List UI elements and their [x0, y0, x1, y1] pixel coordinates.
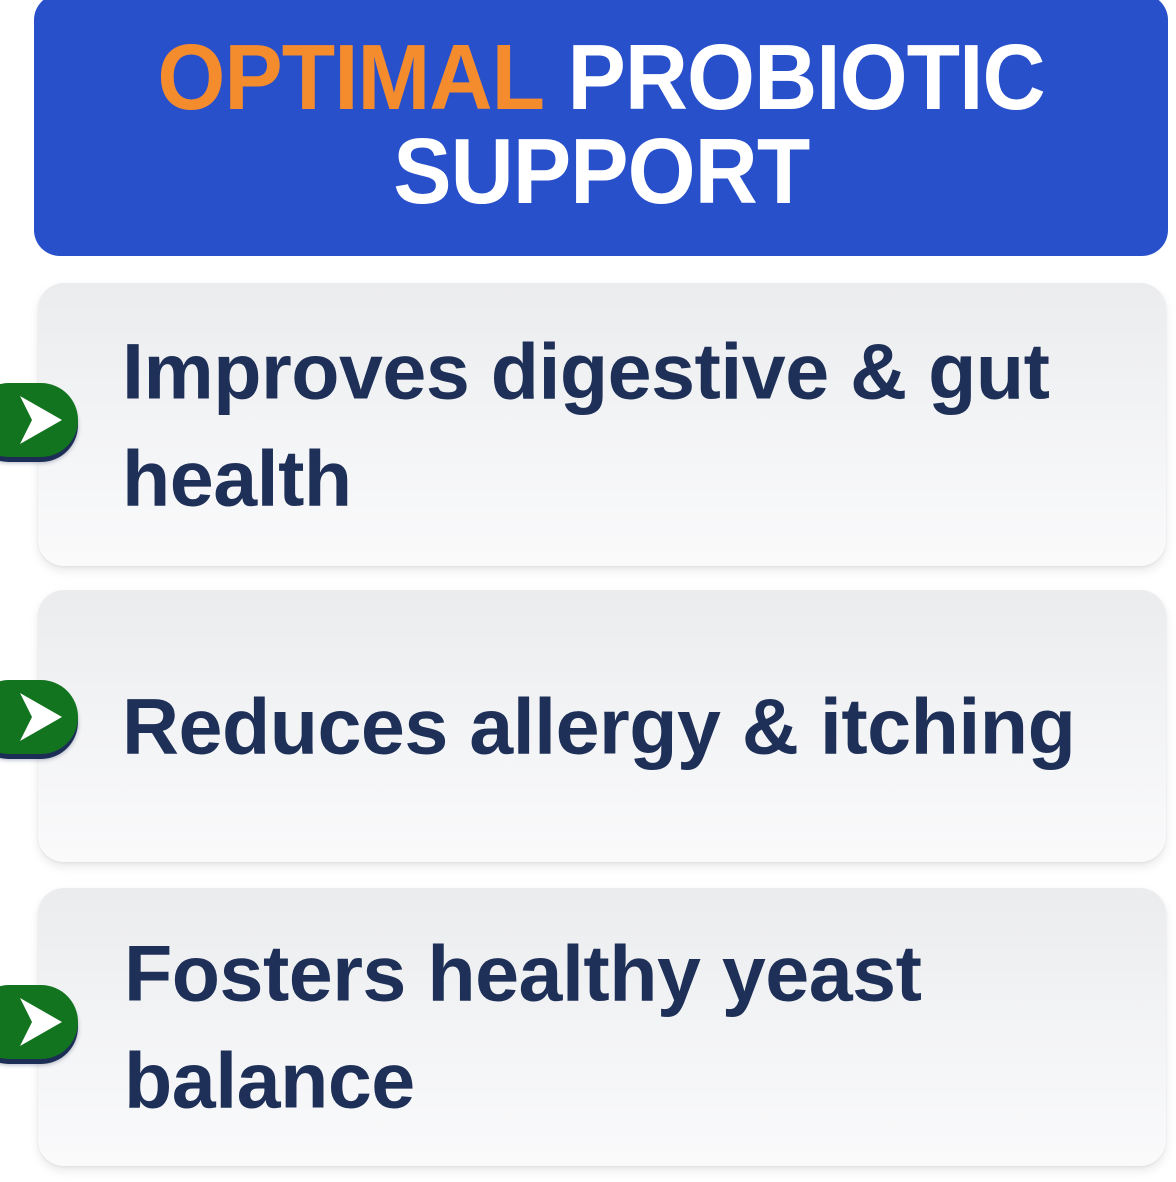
chevron-right-arrow-icon [0, 985, 78, 1059]
benefit-card: Reduces allergy & itching [38, 590, 1166, 862]
benefit-text: Fosters healthy yeast balance [124, 920, 1126, 1135]
chevron-right-arrow-icon [0, 383, 78, 457]
header-main-word: PROBIOTIC [567, 25, 1044, 129]
benefit-card: Improves digestive & gut health [38, 283, 1166, 566]
benefit-card: Fosters healthy yeast balance [38, 888, 1166, 1166]
benefit-text: Reduces allergy & itching [122, 672, 1126, 779]
benefit-text: Improves digestive & gut health [122, 317, 1126, 532]
probiotic-support-infographic: OPTIMAL PROBIOTIC SUPPORT Improves diges… [0, 0, 1176, 1182]
header-title-line-1: OPTIMAL PROBIOTIC [157, 32, 1044, 122]
header-banner: OPTIMAL PROBIOTIC SUPPORT [34, 0, 1168, 256]
header-title-line-2: SUPPORT [393, 126, 809, 216]
header-accent-word: OPTIMAL [157, 25, 544, 129]
chevron-right-arrow-icon [0, 680, 78, 754]
